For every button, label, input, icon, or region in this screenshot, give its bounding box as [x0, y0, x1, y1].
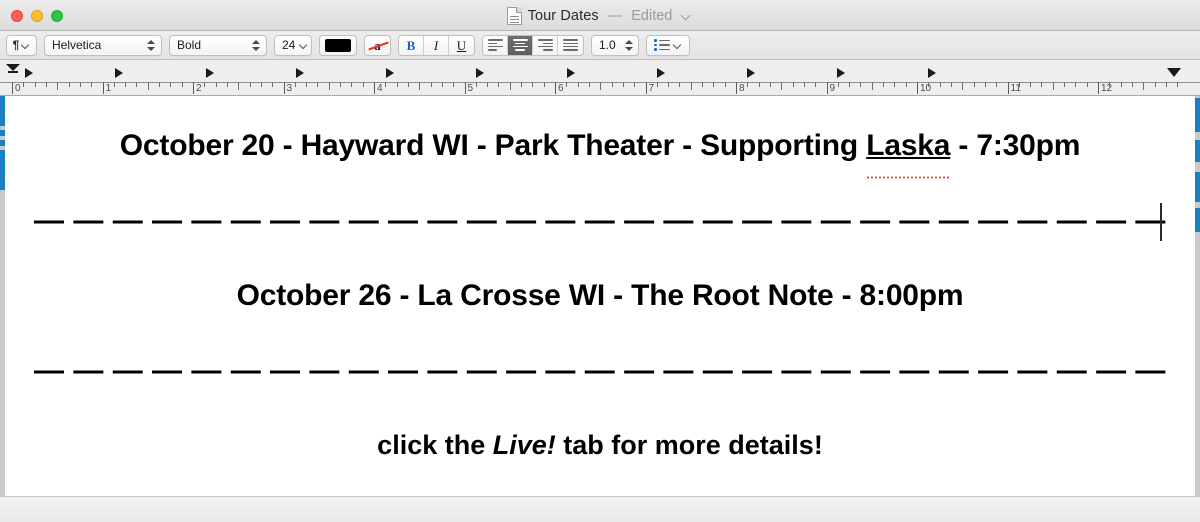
underline-icon: U: [457, 39, 466, 52]
ruler-tick-minor: [951, 82, 952, 87]
ruler-tick-minor: [838, 82, 839, 87]
ruler-tick-minor: [1019, 82, 1020, 87]
ruler-tab-stop[interactable]: [567, 68, 575, 78]
italic-icon: I: [434, 39, 438, 52]
ruler-tick-major: [646, 82, 647, 94]
ruler-tick-minor: [883, 82, 884, 87]
ruler-tick-minor: [453, 82, 454, 87]
ruler-tick-minor: [702, 82, 703, 87]
font-size-value: 24: [282, 38, 295, 52]
ruler-label: 0: [15, 83, 21, 94]
ruler-tab-stop[interactable]: [206, 68, 214, 78]
ruler-tick-minor: [544, 82, 545, 87]
misspelled-word: Laska: [866, 120, 950, 172]
align-left-button[interactable]: [483, 36, 508, 55]
ruler-tick-minor: [759, 82, 760, 87]
ruler-tab-stop[interactable]: [928, 68, 936, 78]
ruler-tick-minor: [578, 82, 579, 87]
title-group: Tour Dates — Edited: [0, 0, 1200, 31]
color-fill: [325, 39, 351, 52]
emphasis-text: Live!: [493, 430, 556, 460]
ruler-tick-minor: [227, 82, 228, 87]
text-color-swatch[interactable]: [319, 35, 357, 56]
ruler[interactable]: 0123456789101112: [0, 60, 1200, 96]
window-title: Tour Dates: [528, 8, 599, 24]
pilcrow-icon: ¶: [13, 39, 20, 51]
divider-line: — — — — — — — — — — — — — — — — — — — — …: [5, 199, 1195, 243]
ruler-tick-minor: [57, 82, 58, 90]
ruler-tick-minor: [363, 82, 364, 87]
ruler-tab-stop[interactable]: [25, 68, 33, 78]
ruler-tick-minor: [1030, 82, 1031, 87]
ruler-tick-minor: [317, 82, 318, 87]
ruler-tick-major: [1008, 82, 1009, 94]
right-edge-indicator: [1195, 96, 1200, 496]
align-center-icon: [513, 39, 528, 50]
line-spacing-select[interactable]: 1.0: [591, 35, 639, 56]
ruler-tick-minor: [487, 82, 488, 87]
list-style-dropdown[interactable]: [646, 35, 690, 56]
ruler-label: 1: [106, 83, 112, 94]
ruler-tick-minor: [510, 82, 511, 90]
ruler-tick-minor: [204, 82, 205, 87]
ruler-tick-major: [103, 82, 104, 94]
ruler-tick-minor: [634, 82, 635, 87]
ruler-tick-minor: [23, 82, 24, 87]
ruler-tab-stop[interactable]: [386, 68, 394, 78]
ruler-tick-minor: [804, 82, 805, 87]
align-justify-button[interactable]: [558, 36, 583, 55]
divider-text: — — — — — — — — — — — — — — — — — — — — …: [34, 204, 1166, 237]
ruler-label: 10: [920, 83, 931, 94]
ruler-tick-minor: [1143, 82, 1144, 90]
ruler-tick-minor: [612, 82, 613, 87]
title-dash: —: [608, 8, 623, 24]
ruler-tab-stop[interactable]: [476, 68, 484, 78]
ruler-tick-minor: [657, 82, 658, 87]
ruler-tick-major: [465, 82, 466, 94]
ruler-tick-minor: [136, 82, 137, 87]
document-page[interactable]: October 20 - Hayward WI - Park Theater -…: [5, 96, 1195, 496]
ruler-tick-minor: [1087, 82, 1088, 87]
maximize-button[interactable]: [51, 10, 63, 22]
status-bar: [0, 496, 1200, 522]
ruler-tick-minor: [125, 82, 126, 87]
ruler-tick-minor: [114, 82, 115, 87]
close-button[interactable]: [11, 10, 23, 22]
paragraph-style-dropdown[interactable]: ¶: [6, 35, 37, 56]
ruler-tick-minor: [238, 82, 239, 90]
divider-line: — — — — — — — — — — — — — — — — — — — — …: [5, 349, 1195, 393]
ruler-tick-minor: [69, 82, 70, 87]
font-style-select[interactable]: Bold: [169, 35, 267, 56]
ruler-tick-major: [284, 82, 285, 94]
ruler-tick-minor: [250, 82, 251, 87]
ruler-tab-stop[interactable]: [296, 68, 304, 78]
ruler-tick-major: [555, 82, 556, 94]
ruler-tick-minor: [940, 82, 941, 87]
stepper-icon: [624, 38, 634, 53]
ruler-tick-minor: [80, 82, 81, 87]
chevron-down-icon: [673, 41, 682, 50]
left-indent-marker[interactable]: [6, 64, 20, 80]
ruler-tick-minor: [906, 82, 907, 87]
ruler-tab-stop[interactable]: [747, 68, 755, 78]
stepper-icon: [251, 38, 261, 53]
ruler-tick-minor: [872, 82, 873, 90]
ruler-tick-minor: [498, 82, 499, 87]
window-controls: [11, 0, 63, 31]
font-style-value: Bold: [177, 38, 201, 52]
ruler-tick-minor: [216, 82, 217, 87]
italic-button[interactable]: I: [424, 36, 449, 55]
minimize-button[interactable]: [31, 10, 43, 22]
bulleted-list-icon: [654, 39, 670, 51]
ruler-label: 3: [287, 83, 293, 94]
ruler-tick-minor: [329, 82, 330, 90]
ruler-label: 7: [649, 83, 655, 94]
ruler-tick-minor: [1121, 82, 1122, 87]
ruler-tick-minor: [442, 82, 443, 87]
ruler-tick-minor: [170, 82, 171, 87]
align-right-button[interactable]: [533, 36, 558, 55]
blank-line: [5, 322, 1195, 349]
ruler-tick-minor: [46, 82, 47, 87]
ruler-tick-minor: [996, 82, 997, 87]
ruler-tick-minor: [182, 82, 183, 87]
align-justify-icon: [563, 39, 578, 50]
font-size-select[interactable]: 24: [274, 35, 312, 56]
ruler-tick-minor: [1109, 82, 1110, 87]
ruler-tick-minor: [1166, 82, 1167, 87]
ruler-tick-minor: [397, 82, 398, 87]
clear-text-color-button[interactable]: a: [364, 35, 391, 56]
ruler-tick-minor: [1041, 82, 1042, 87]
ruler-tick-minor: [148, 82, 149, 90]
line-text-after: - 7:30pm: [950, 129, 1080, 162]
font-family-select[interactable]: Helvetica: [44, 35, 162, 56]
ruler-tick-minor: [1177, 82, 1178, 87]
ruler-tick-minor: [35, 82, 36, 87]
ruler-tick-major: [374, 82, 375, 94]
ruler-tick-minor: [725, 82, 726, 87]
ruler-tick-minor: [668, 82, 669, 87]
chevron-down-icon: [21, 41, 30, 50]
ruler-tick-minor: [159, 82, 160, 87]
ruler-tick-minor: [679, 82, 680, 87]
ruler-tab-stop[interactable]: [115, 68, 123, 78]
text-caret: [1160, 203, 1162, 241]
ruler-tick-minor: [566, 82, 567, 87]
ruler-label: 5: [468, 83, 474, 94]
ruler-tick-minor: [1155, 82, 1156, 87]
ruler-tick-minor: [1132, 82, 1133, 87]
ruler-label: 4: [377, 83, 383, 94]
ruler-tick-minor: [793, 82, 794, 87]
blank-line: [5, 243, 1195, 270]
text-style-group: B I U: [398, 35, 475, 56]
ruler-label: 9: [830, 83, 836, 94]
ruler-tick-minor: [306, 82, 307, 87]
ruler-tick-minor: [974, 82, 975, 87]
ruler-tick-minor: [91, 82, 92, 87]
bold-icon: B: [407, 39, 416, 52]
ruler-tick-minor: [1075, 82, 1076, 87]
font-family-value: Helvetica: [52, 38, 101, 52]
ruler-tick-minor: [781, 82, 782, 90]
edited-status: Edited: [631, 8, 672, 24]
line-text-before: October 20 - Hayward WI - Park Theater -…: [120, 129, 866, 162]
ruler-tab-stop[interactable]: [657, 68, 665, 78]
ruler-label: 2: [196, 83, 202, 94]
line-text-before: click the: [377, 430, 493, 460]
alignment-group: [482, 35, 584, 56]
ruler-tick-minor: [1064, 82, 1065, 87]
ruler-tab-stop[interactable]: [837, 68, 845, 78]
ruler-tick-minor: [272, 82, 273, 87]
ruler-tick-minor: [928, 82, 929, 87]
ruler-tick-minor: [589, 82, 590, 87]
ruler-tick-minor: [261, 82, 262, 87]
ruler-tick-major: [193, 82, 194, 94]
line-spacing-value: 1.0: [599, 38, 616, 52]
document-area: October 20 - Hayward WI - Park Theater -…: [0, 96, 1200, 496]
title-bar: Tour Dates — Edited: [0, 0, 1200, 31]
ruler-tick-minor: [340, 82, 341, 87]
ruler-tick-minor: [860, 82, 861, 87]
ruler-tick-minor: [521, 82, 522, 87]
ruler-tick-minor: [985, 82, 986, 87]
ruler-tick-major: [827, 82, 828, 94]
blank-line: [5, 172, 1195, 199]
ruler-tick-minor: [351, 82, 352, 87]
stepper-icon: [146, 38, 156, 53]
document-line: click the Live! tab for more details!: [5, 420, 1195, 470]
document-line: October 26 - La Crosse WI - The Root Not…: [5, 270, 1195, 322]
ruler-tick-minor: [815, 82, 816, 87]
ruler-tick-minor: [623, 82, 624, 87]
ruler-tick-minor: [431, 82, 432, 87]
ruler-tick-minor: [962, 82, 963, 90]
ruler-tick-major: [1098, 82, 1099, 94]
ruler-tick-minor: [419, 82, 420, 90]
ruler-tick-minor: [770, 82, 771, 87]
ruler-tick-minor: [849, 82, 850, 87]
ruler-tick-minor: [894, 82, 895, 87]
ruler-tick-minor: [408, 82, 409, 87]
ruler-tick-minor: [385, 82, 386, 87]
right-indent-marker[interactable]: [1167, 68, 1181, 77]
document-line: October 20 - Hayward WI - Park Theater -…: [5, 120, 1195, 172]
ruler-tick-minor: [476, 82, 477, 87]
align-center-button[interactable]: [508, 36, 533, 55]
ruler-label: 8: [739, 83, 745, 94]
ruler-tick-minor: [295, 82, 296, 87]
align-right-icon: [538, 39, 553, 50]
underline-button[interactable]: U: [449, 36, 474, 55]
ruler-tick-minor: [600, 82, 601, 90]
ruler-tick-minor: [532, 82, 533, 87]
ruler-label: 12: [1101, 83, 1112, 94]
align-left-icon: [488, 39, 503, 50]
ruler-tick-minor: [691, 82, 692, 90]
formatting-toolbar: ¶ Helvetica Bold 24 a B: [0, 31, 1200, 60]
line-text-after: tab for more details!: [556, 430, 823, 460]
ruler-tick-minor: [713, 82, 714, 87]
chevron-down-icon: [299, 41, 308, 50]
textedit-window: Tour Dates — Edited ¶ Helvetica Bold 24: [0, 0, 1200, 522]
ruler-tick-minor: [747, 82, 748, 87]
ruler-label: 6: [558, 83, 564, 94]
chevron-down-icon[interactable]: [681, 10, 693, 22]
ruler-tick-major: [917, 82, 918, 94]
blank-line: [5, 393, 1195, 420]
document-icon: [507, 7, 522, 25]
ruler-tick-major: [12, 82, 13, 94]
bold-button[interactable]: B: [399, 36, 424, 55]
ruler-tick-minor: [1053, 82, 1054, 90]
ruler-tick-major: [736, 82, 737, 94]
